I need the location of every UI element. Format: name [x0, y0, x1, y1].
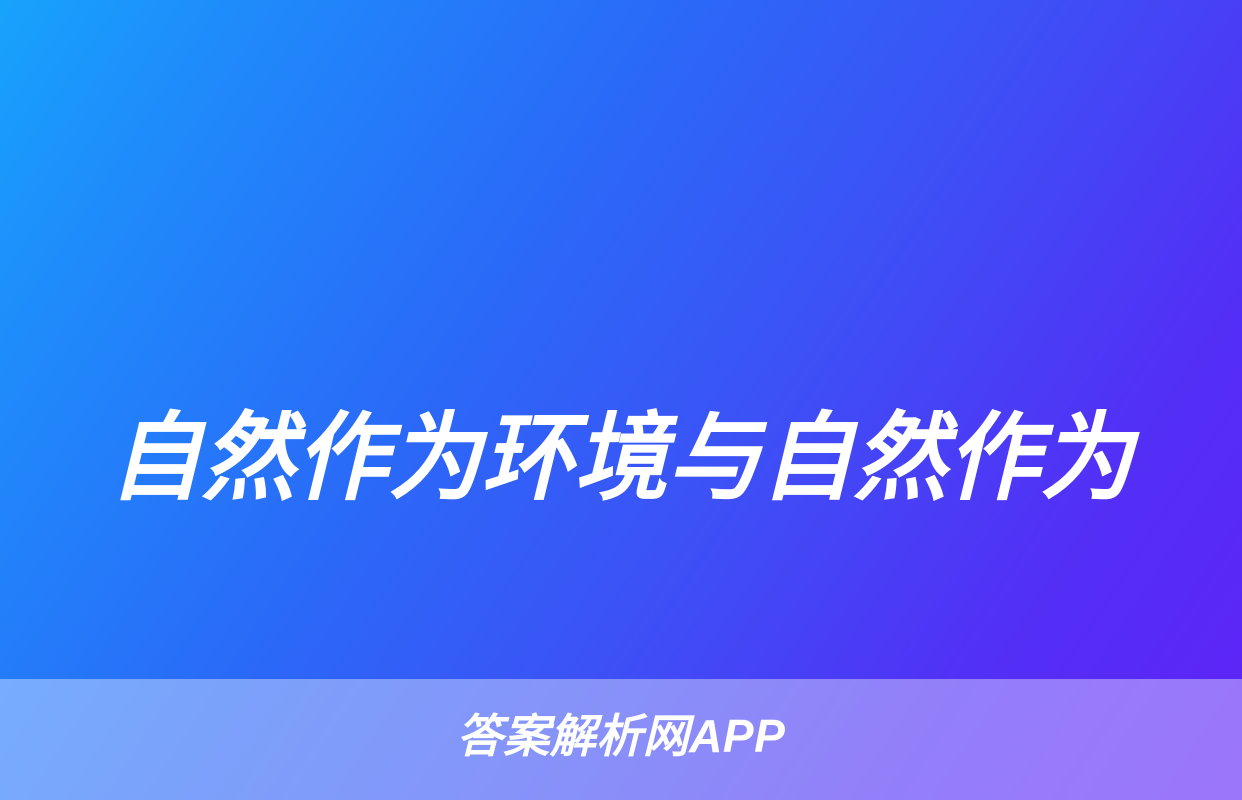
share-card: 自然作为环境与自然作为 其自身是完全不一样的。 ……阅读答案（2012高 考语文…	[0, 0, 1242, 800]
app-watermark: 答案解析网APP	[0, 707, 1242, 765]
headline-line-1: 自然作为环境与自然作为	[28, 386, 1213, 531]
